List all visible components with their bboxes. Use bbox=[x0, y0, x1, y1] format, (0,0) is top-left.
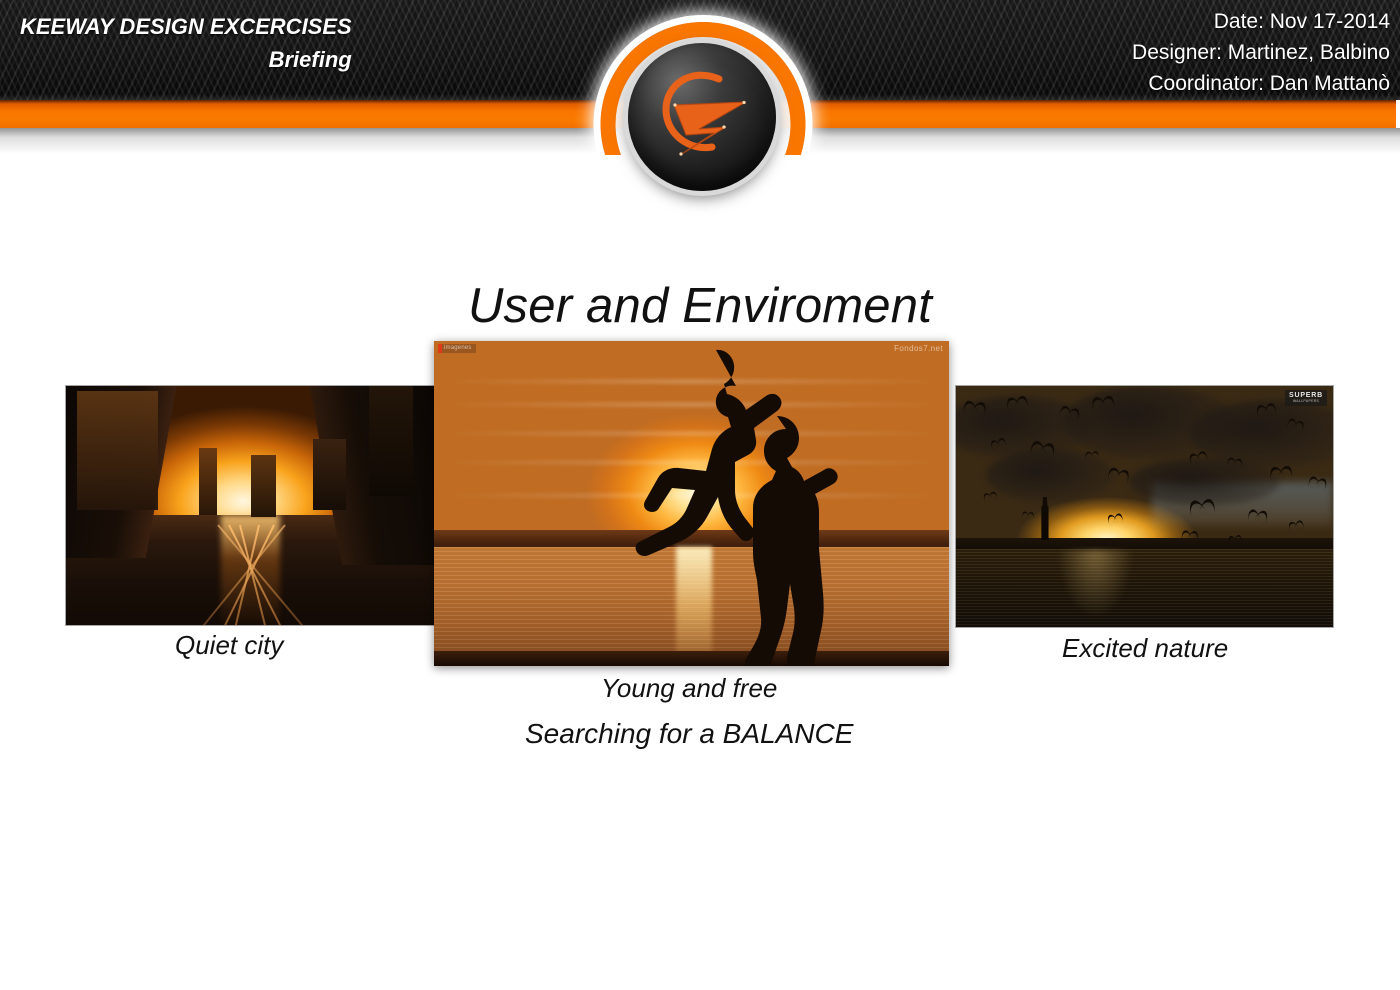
city-building-center-a bbox=[199, 448, 217, 515]
bird-icon bbox=[1005, 395, 1029, 408]
bird-icon bbox=[1287, 519, 1304, 529]
brand-subtitle: Briefing bbox=[20, 43, 352, 76]
birds-watermark: SUPERB WALLPAPERS bbox=[1285, 390, 1327, 406]
bird-icon bbox=[1255, 402, 1277, 415]
couple-silhouette bbox=[434, 341, 949, 666]
couple-watermark-right: Fondos7.net bbox=[894, 344, 943, 353]
meta-designer: Designer: Martinez, Balbino bbox=[1132, 37, 1390, 68]
birds-watermark-sub: WALLPAPERS bbox=[1289, 399, 1323, 404]
caption-excited-nature: Excited nature bbox=[1062, 633, 1228, 664]
photo-young-and-free[interactable]: imagenes Fondos7.net bbox=[434, 341, 949, 666]
bird-icon bbox=[1091, 395, 1116, 408]
city-building-right-tall bbox=[369, 386, 413, 496]
bird-icon bbox=[963, 400, 988, 413]
conclusion-text: Searching for a BALANCE bbox=[525, 718, 853, 750]
birds-watermark-title: SUPERB bbox=[1289, 392, 1323, 399]
bird-icon bbox=[1228, 535, 1243, 543]
caption-quiet-city: Quiet city bbox=[175, 630, 283, 661]
couple-watermark-left: imagenes bbox=[438, 344, 476, 353]
page-title: User and Enviroment bbox=[0, 278, 1400, 334]
meta-date: Date: Nov 17-2014 bbox=[1132, 6, 1390, 37]
caption-young-and-free: Young and free bbox=[601, 673, 777, 704]
bird-icon bbox=[983, 491, 998, 500]
bird-icon bbox=[1268, 465, 1293, 478]
city-building-center-b bbox=[251, 455, 277, 517]
brand-title: KEEWAY DESIGN EXCERCISES bbox=[20, 10, 352, 43]
city-building-right-mid bbox=[313, 439, 346, 511]
bird-icon bbox=[1181, 530, 1199, 539]
header-meta: Date: Nov 17-2014 Designer: Martinez, Ba… bbox=[1132, 6, 1390, 99]
meta-coordinator: Coordinator: Dan Mattanò bbox=[1132, 68, 1390, 99]
city-building-left-tall bbox=[77, 391, 158, 511]
bird-icon bbox=[1106, 513, 1123, 522]
keeway-logo-svg bbox=[628, 43, 776, 191]
birds-sun-reflection bbox=[1058, 550, 1133, 617]
bird-icon bbox=[1021, 511, 1034, 518]
photo-excited-nature[interactable]: SUPERB WALLPAPERS bbox=[956, 386, 1333, 627]
photo-quiet-city[interactable] bbox=[66, 386, 435, 625]
keeway-logo-icon bbox=[628, 43, 776, 191]
birds-sea bbox=[956, 549, 1333, 627]
bird-icon bbox=[1247, 509, 1269, 521]
brand-heading: KEEWAY DESIGN EXCERCISES Briefing bbox=[20, 10, 352, 76]
bird-icon bbox=[1227, 457, 1244, 466]
bird-icon bbox=[1187, 498, 1215, 513]
bird-icon bbox=[1085, 451, 1100, 458]
